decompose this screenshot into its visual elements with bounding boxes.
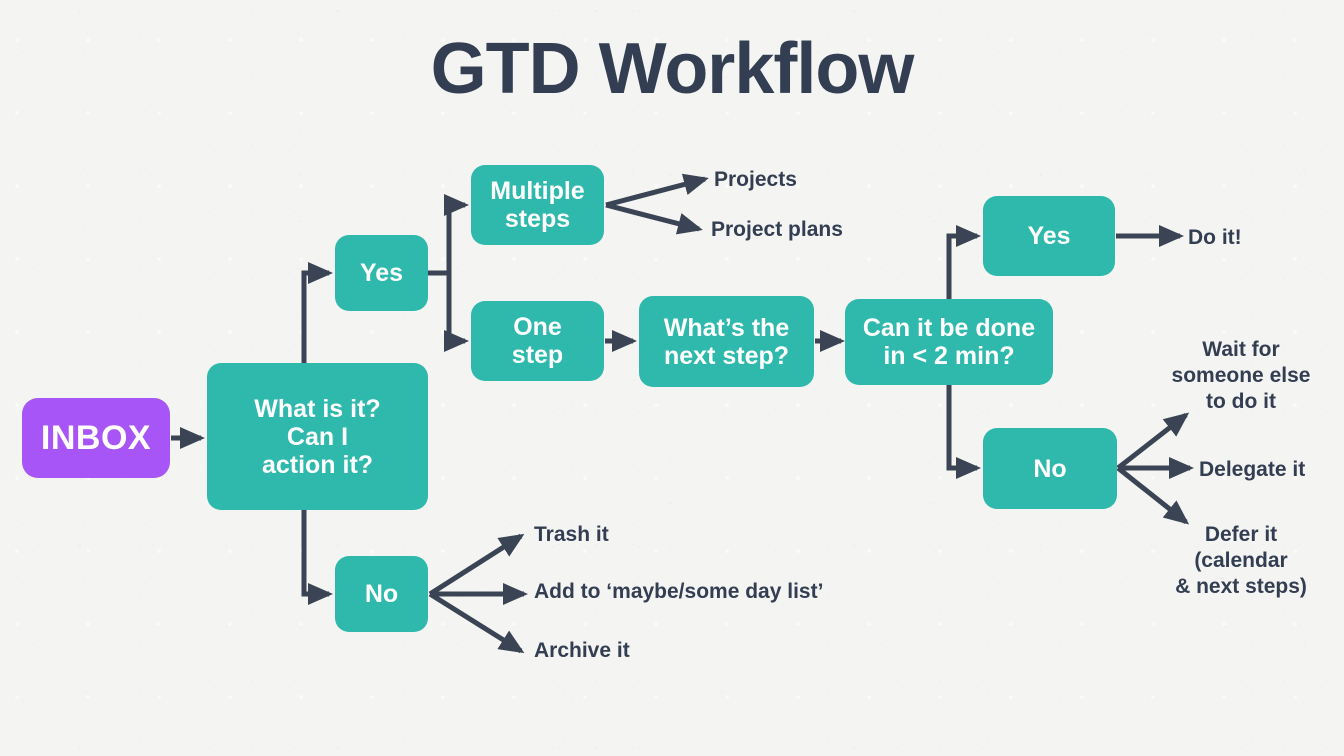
node-one-step[interactable]: One step [471, 301, 604, 381]
diagram-canvas: GTD Workflow [0, 0, 1344, 756]
node-yes-actionable[interactable]: Yes [335, 235, 428, 311]
connector-no-to-archive [430, 594, 521, 651]
connector-yes-to-one [428, 273, 465, 341]
outcome-project-plans: Project plans [711, 217, 843, 243]
node-multiple-steps[interactable]: Multiple steps [471, 165, 604, 245]
node-what-is-it[interactable]: What is it? Can I action it? [207, 363, 428, 510]
connector-what-to-no [304, 510, 329, 594]
connector-multiple-to-project-plans [606, 205, 699, 229]
connector-no-to-wait [1118, 415, 1186, 468]
node-next-step[interactable]: What’s the next step? [639, 296, 814, 387]
outcome-projects: Projects [714, 167, 797, 193]
connector-what-to-yes [304, 273, 329, 363]
connector-no-to-defer [1118, 468, 1186, 522]
outcome-maybe-list: Add to ‘maybe/some day list’ [534, 579, 823, 605]
outcome-wait-for-someone: Wait for someone else to do it [1151, 337, 1331, 415]
outcome-do-it: Do it! [1188, 225, 1242, 251]
node-two-minute-rule[interactable]: Can it be done in < 2 min? [845, 299, 1053, 385]
node-yes-two-minute[interactable]: Yes [983, 196, 1115, 276]
node-no-actionable[interactable]: No [335, 556, 428, 632]
connector-twomin-to-yes [949, 236, 977, 300]
connector-multiple-to-projects [606, 179, 705, 205]
outcome-archive-it: Archive it [534, 638, 630, 664]
connector-yes-to-multiple [428, 205, 465, 273]
node-no-two-minute[interactable]: No [983, 428, 1117, 509]
node-inbox[interactable]: INBOX [22, 398, 170, 478]
connector-twomin-to-no [949, 383, 977, 468]
outcome-defer-it: Defer it (calendar & next steps) [1151, 522, 1331, 600]
outcome-delegate-it: Delegate it [1199, 457, 1305, 483]
connector-no-to-trash [430, 536, 521, 594]
outcome-trash-it: Trash it [534, 522, 609, 548]
